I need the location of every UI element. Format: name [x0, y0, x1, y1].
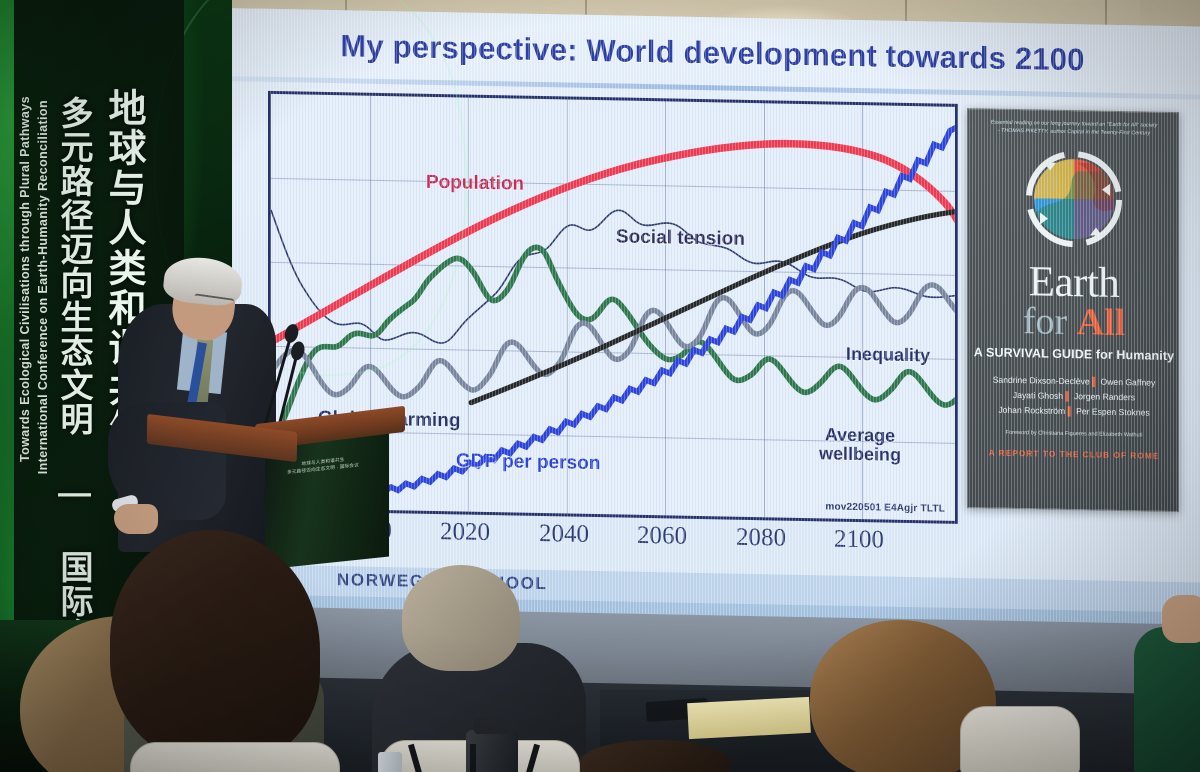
- book-title-for: for: [1023, 300, 1067, 343]
- thermos-cap: [474, 718, 510, 734]
- label-average-wellbeing: Average wellbeing: [819, 425, 901, 465]
- book-blurb: Essential reading on our long journey to…: [978, 118, 1170, 138]
- label-social-tension: Social tension: [616, 226, 745, 250]
- book-publisher-line: A REPORT TO THE CLUB OF ROME: [968, 447, 1179, 461]
- globe-icon: [1018, 142, 1130, 256]
- book-cover-earth-for-all: Essential reading on our long journey to…: [967, 108, 1179, 512]
- book-title-earth: Earth: [968, 261, 1179, 305]
- book-author-5: Johan Rockström: [998, 405, 1065, 416]
- book-foreword: Foreword by Christiana Figueres and Eliz…: [974, 429, 1174, 439]
- x-tick-2040: 2040: [539, 520, 589, 549]
- audience-hair: [402, 565, 520, 671]
- x-tick-2100: 2100: [834, 526, 884, 555]
- author-separator: ▌: [1068, 406, 1074, 416]
- audience-hair: [110, 530, 320, 762]
- audience-hair: [580, 740, 730, 772]
- book-subtitle: A SURVIVAL GUIDE for Humanity: [968, 345, 1179, 363]
- audience-member-dark-hair: [100, 530, 350, 772]
- book-author-2: Owen Gaffney: [1101, 377, 1156, 388]
- banner-english-line-1: International Conference on Earth-Humani…: [36, 100, 50, 474]
- x-tick-2060: 2060: [637, 522, 687, 551]
- book-authors: Sandrine Dixson-Declève ▌ Owen Gaffney J…: [974, 372, 1174, 421]
- water-bottle: [378, 752, 402, 772]
- chair-back-left: [130, 742, 340, 772]
- x-tick-2080: 2080: [736, 524, 786, 553]
- label-inequality: Inequality: [846, 344, 930, 367]
- author-separator: ▌: [1065, 391, 1071, 401]
- green-sleeve: [1134, 627, 1200, 772]
- book-blurb-line2: - THOMAS PIKETTY, author Capital in the …: [998, 128, 1150, 137]
- hand-fist: [1162, 595, 1200, 643]
- book-author-6: Per Espen Stoknes: [1076, 406, 1150, 417]
- label-gdp-per-person: GDP per person: [456, 450, 600, 475]
- book-author-1: Sandrine Dixson-Declève: [993, 375, 1090, 387]
- book-title-all: All: [1077, 301, 1126, 344]
- chart-watermark: mov220501 E4Agjr TLTL: [825, 501, 945, 514]
- label-average-wellbeing-word1: Average: [825, 424, 895, 445]
- x-tick-2020: 2020: [440, 518, 490, 547]
- book-title-for-all: for All: [968, 301, 1179, 343]
- notepad-on-table: [687, 697, 811, 739]
- author-separator: ▌: [1092, 376, 1098, 386]
- audience-member-bottom: [580, 740, 730, 772]
- book-author-3: Jayati Ghosh: [1013, 390, 1063, 401]
- raised-hand: [1120, 565, 1200, 772]
- label-average-wellbeing-word2: wellbeing: [819, 444, 901, 466]
- camera-tripod: [412, 744, 542, 772]
- conference-photo: My perspective: World development toward…: [0, 0, 1200, 772]
- banner-english-line-2: Towards Ecological Civilisations through…: [18, 96, 32, 462]
- chair-back-right: [960, 706, 1080, 772]
- book-author-4: Jorgen Randers: [1074, 391, 1135, 402]
